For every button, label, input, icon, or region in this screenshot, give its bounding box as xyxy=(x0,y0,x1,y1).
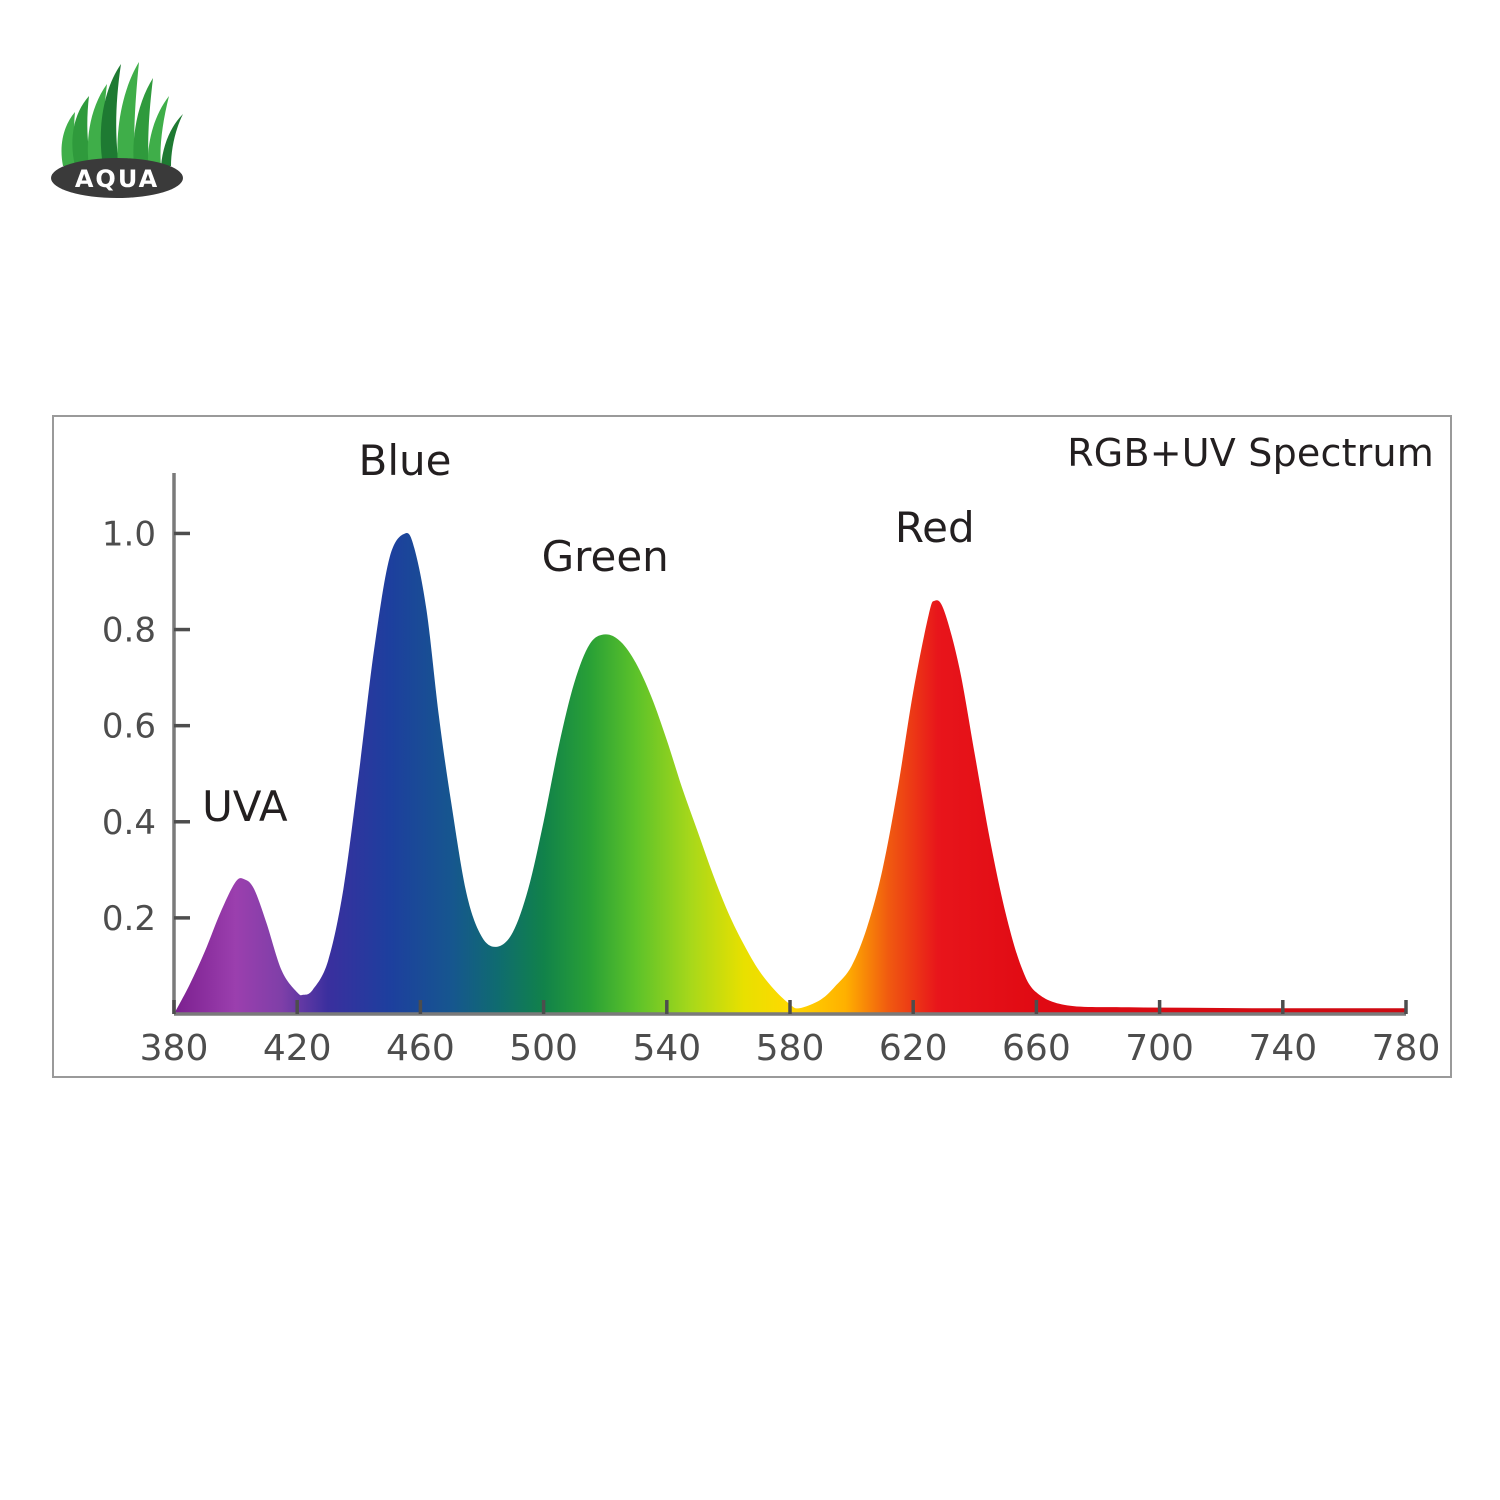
grass-blades-icon xyxy=(62,62,184,166)
x-tick-label: 660 xyxy=(1002,1028,1071,1069)
x-tick-label: 500 xyxy=(509,1028,578,1069)
x-tick-label: 740 xyxy=(1248,1028,1317,1069)
x-tick-label: 580 xyxy=(756,1028,825,1069)
y-tick-label: 0.6 xyxy=(102,707,156,747)
y-axis-ticks: 0.20.40.60.81.0 xyxy=(102,514,190,938)
spectrum-chart: RGB+UV Spectrum 0.20.40.60.81.0 38042046… xyxy=(52,415,1452,1078)
peak-label-blue: Blue xyxy=(359,436,452,485)
brand-logo: AQUA xyxy=(45,38,195,198)
logo-badge-text: AQUA xyxy=(75,165,159,193)
y-tick-label: 1.0 xyxy=(102,514,156,554)
chart-axes: 0.20.40.60.81.0 380420460500540580620660… xyxy=(102,473,1440,1069)
peak-label-green: Green xyxy=(542,532,669,581)
peak-label-red: Red xyxy=(895,503,975,552)
peak-label-uva: UVA xyxy=(202,782,288,831)
x-tick-label: 780 xyxy=(1372,1028,1441,1069)
x-tick-label: 380 xyxy=(140,1028,209,1069)
x-tick-label: 700 xyxy=(1125,1028,1194,1069)
spectrum-area xyxy=(174,475,1406,1016)
x-tick-label: 540 xyxy=(632,1028,701,1069)
y-tick-label: 0.4 xyxy=(102,803,156,843)
x-tick-label: 460 xyxy=(386,1028,455,1069)
logo-graphic: AQUA xyxy=(45,38,195,198)
y-tick-label: 0.2 xyxy=(102,899,156,939)
x-tick-label: 620 xyxy=(879,1028,948,1069)
x-tick-label: 420 xyxy=(263,1028,332,1069)
spectrum-plot: 0.20.40.60.81.0 380420460500540580620660… xyxy=(54,417,1454,1080)
y-tick-label: 0.8 xyxy=(102,611,156,651)
